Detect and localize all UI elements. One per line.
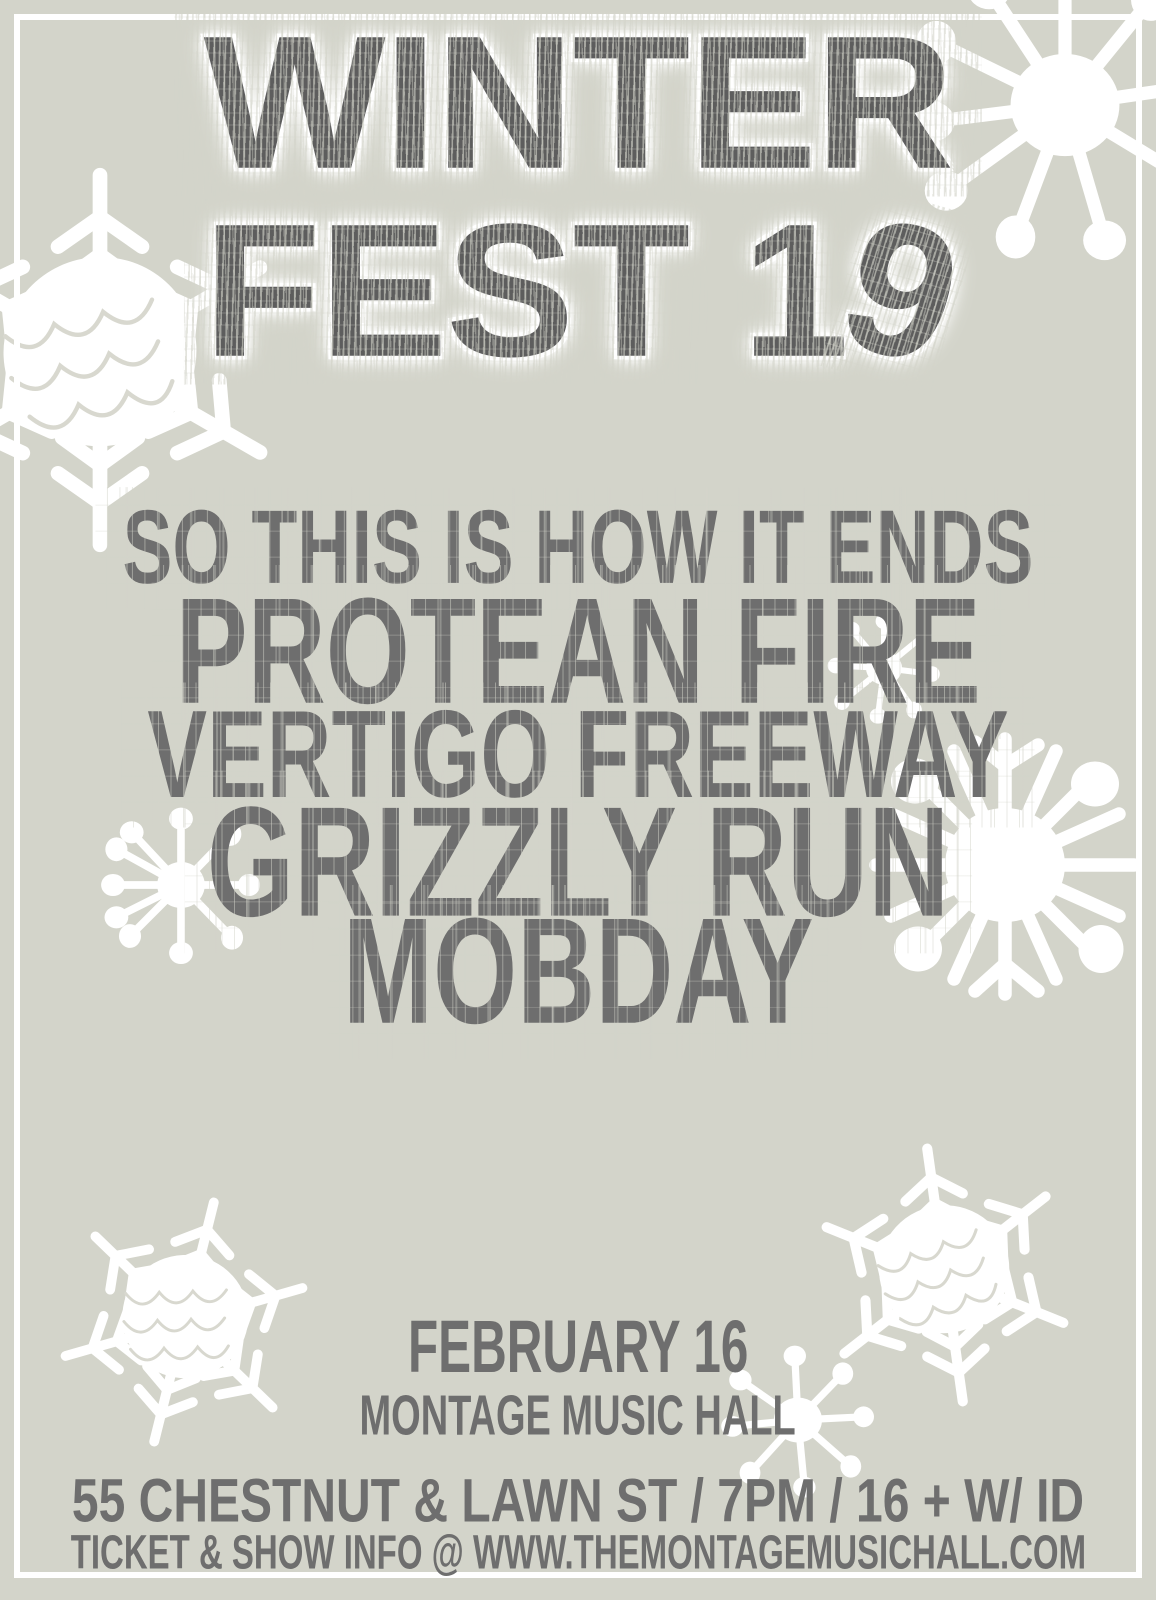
event-info: TICKET & SHOW INFO @ WWW.THEMONTAGEMUSIC… bbox=[0, 1534, 1156, 1573]
event-info-text: TICKET & SHOW INFO @ WWW.THEMONTAGEMUSIC… bbox=[70, 1526, 1085, 1581]
lineup-list: SO THIS IS HOW IT ENDS PROTEAN FIRE VERT… bbox=[0, 512, 1156, 1024]
poster-canvas: WINTER FEST19 SO THIS IS HOW IT ENDS PRO… bbox=[0, 0, 1156, 1600]
headline-line-winter: WINTER bbox=[0, 34, 1156, 173]
event-address: 55 CHESTNUT & LAWN ST / 7PM / 16 + W/ ID bbox=[0, 1474, 1156, 1529]
event-venue: MONTAGE MUSIC HALL bbox=[0, 1394, 1156, 1439]
poster-content: WINTER FEST19 SO THIS IS HOW IT ENDS PRO… bbox=[0, 0, 1156, 1600]
event-venue-text: MONTAGE MUSIC HALL bbox=[360, 1385, 796, 1449]
headline-word-winter: WINTER bbox=[204, 20, 953, 187]
headline-word-fest: FEST bbox=[203, 208, 688, 375]
event-date: FEBRUARY 16 bbox=[0, 1318, 1156, 1378]
band-name-4: MOBDAY bbox=[343, 897, 814, 1048]
headline-line-fest-year: FEST19 bbox=[0, 222, 1156, 361]
lineup-item-4: MOBDAY bbox=[0, 920, 1156, 1024]
event-date-text: FEBRUARY 16 bbox=[408, 1305, 748, 1390]
headline-year-digit-9: 9 bbox=[826, 197, 974, 386]
